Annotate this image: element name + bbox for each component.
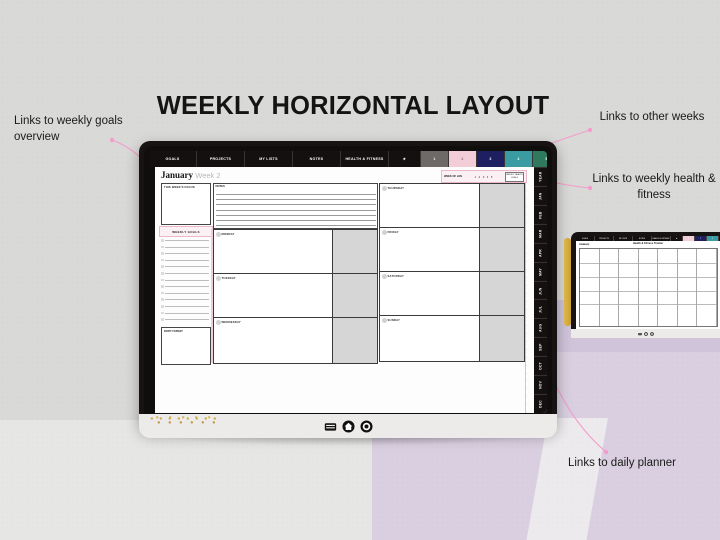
secondary-tab-goals[interactable]: GOALS xyxy=(576,236,595,241)
day-notes-area[interactable]: THURSDAY xyxy=(380,184,479,229)
secondary-tab-projects[interactable]: PROJECTS xyxy=(595,236,614,241)
tracker-row-line xyxy=(619,291,638,292)
tracker-column[interactable] xyxy=(639,249,659,326)
week-link-5[interactable]: 5 xyxy=(491,175,493,179)
month-label: January xyxy=(161,170,193,180)
day-notes-area[interactable]: FRIDAY xyxy=(380,228,479,273)
notes-lines[interactable] xyxy=(216,190,376,226)
tracker-row-line xyxy=(697,291,716,292)
tracker-row-line xyxy=(639,277,658,278)
tracker-row-line xyxy=(600,263,619,264)
tracker-row-line xyxy=(678,277,697,278)
day-notes-area[interactable]: WEDNESDAY xyxy=(214,318,332,363)
tracker-row-line xyxy=(697,304,716,305)
day-label: MONDAY xyxy=(222,233,235,236)
goal-write-line[interactable] xyxy=(165,293,209,294)
main-tablet: GOALSPROJECTSMY LISTSNOTESHEALTH & FITNE… xyxy=(139,141,557,431)
notes-label: NOTES xyxy=(216,185,225,188)
day-notes-area[interactable]: SATURDAY xyxy=(380,272,479,317)
day-link-circle-icon[interactable] xyxy=(382,230,387,235)
planner-page: January Week 2 WEEK OF JAN 12345 WEEKLY … xyxy=(155,167,527,413)
weekly-goal-row[interactable] xyxy=(161,250,209,257)
stylus-pencil xyxy=(564,238,571,326)
day-block-saturday[interactable]: SATURDAY xyxy=(379,271,525,318)
annotation-weekly-health-fitness: Links to weekly health & fitness xyxy=(592,172,716,203)
tracker-row-line xyxy=(580,291,599,292)
day-side-panel[interactable] xyxy=(332,318,377,363)
tracker-row-line xyxy=(600,304,619,305)
goal-write-line[interactable] xyxy=(165,299,209,300)
keyboard-icon[interactable] xyxy=(638,332,642,336)
weekly-goal-row[interactable] xyxy=(161,263,209,270)
day-notes-area[interactable]: MONDAY xyxy=(214,230,332,275)
month-tab-sep[interactable]: SEP xyxy=(534,337,547,356)
week-selector[interactable]: WEEK OF JAN 12345 WEEKLY HEALTH GOALS xyxy=(441,170,527,183)
tracker-row-line xyxy=(639,304,658,305)
tracker-row-line xyxy=(600,277,619,278)
tracker-row-line xyxy=(639,291,658,292)
annotation-daily-planner: Links to daily planner xyxy=(548,456,696,472)
goal-write-line[interactable] xyxy=(165,280,209,281)
month-tab-oct[interactable]: OCT xyxy=(534,356,547,375)
secondary-tab-strip[interactable]: GOALSPROJECTSMY LISTSNOTESHEALTH & FITNE… xyxy=(576,236,720,241)
day-label: SUNDAY xyxy=(388,319,401,322)
notes-box[interactable]: NOTES xyxy=(213,183,378,229)
tracker-row-line xyxy=(580,263,599,264)
day-label: TUESDAY xyxy=(222,277,236,280)
month-tab-year[interactable]: YEAR xyxy=(534,167,547,186)
tracker-row-line xyxy=(639,263,658,264)
weekly-goal-row[interactable] xyxy=(161,316,209,323)
tracker-row-line xyxy=(600,291,619,292)
tracker-row-line xyxy=(580,304,599,305)
goal-write-line[interactable] xyxy=(165,306,209,307)
secondary-tablet: GOALSPROJECTSMY LISTSNOTESHEALTH & FITNE… xyxy=(571,232,720,338)
month-header: January Week 2 xyxy=(161,170,221,180)
month-tab-feb[interactable]: FEB xyxy=(534,205,547,224)
checkbox-icon[interactable] xyxy=(161,318,164,321)
day-notes-area[interactable]: SUNDAY xyxy=(380,316,479,361)
tracker-column[interactable] xyxy=(658,249,678,326)
month-tab-nov[interactable]: NOV xyxy=(534,375,547,394)
secondary-tab-notes[interactable]: NOTES xyxy=(633,236,652,241)
weekly-goal-row[interactable] xyxy=(161,257,209,264)
planner-tab-projects[interactable]: PROJECTS xyxy=(197,151,245,167)
month-tab-jan[interactable]: JAN xyxy=(534,186,547,205)
tracker-row-line xyxy=(580,277,599,278)
checkbox-icon[interactable] xyxy=(161,265,164,268)
checkbox-icon[interactable] xyxy=(161,298,164,301)
day-side-panel[interactable] xyxy=(479,316,524,361)
week-number-links[interactable]: 12345 xyxy=(464,175,503,179)
tracker-row-line xyxy=(678,291,697,292)
checkbox-icon[interactable] xyxy=(161,279,164,282)
goal-write-line[interactable] xyxy=(165,260,209,261)
tracker-row-line xyxy=(697,277,716,278)
goal-write-line[interactable] xyxy=(165,247,209,248)
week-link-3[interactable]: 3 xyxy=(483,175,485,179)
weekly-goal-row[interactable] xyxy=(161,310,209,317)
day-link-circle-icon[interactable] xyxy=(382,274,387,279)
day-label: WEDNESDAY xyxy=(222,321,241,324)
day-link-circle-icon[interactable] xyxy=(216,232,221,237)
secondary-page-title: Health & Fitness Tracker xyxy=(576,242,720,245)
weekly-goal-row[interactable] xyxy=(161,296,209,303)
planner-tab-health-fitness[interactable]: HEALTH & FITNESS xyxy=(341,151,389,167)
tracker-row-line xyxy=(658,277,677,278)
weekly-goals-link[interactable]: WEEKLY GOALS xyxy=(159,226,213,237)
goal-write-line[interactable] xyxy=(165,313,209,314)
keyboard-icon[interactable] xyxy=(324,420,337,433)
month-tab-apr[interactable]: APR xyxy=(534,243,547,262)
this-weeks-focus-label: THIS WEEK'S FOCUS xyxy=(162,184,210,189)
day-side-panel[interactable] xyxy=(479,184,524,229)
goal-write-line[interactable] xyxy=(165,319,209,320)
annotation-weekly-goals-overview: Links to weekly goals overview xyxy=(14,114,134,145)
tracker-row-line xyxy=(619,277,638,278)
month-tab-mar[interactable]: MAR xyxy=(534,224,547,243)
secondary-tab-1[interactable]: 1 xyxy=(683,236,695,241)
day-link-circle-icon[interactable] xyxy=(216,276,221,281)
day-notes-area[interactable]: TUESDAY xyxy=(214,274,332,319)
goal-write-line[interactable] xyxy=(165,273,209,274)
target-icon[interactable] xyxy=(360,420,373,433)
weekly-goal-row[interactable] xyxy=(161,283,209,290)
tracker-row-line xyxy=(658,263,677,264)
weekly-goal-row[interactable] xyxy=(161,270,209,277)
month-tab-jun[interactable]: JUN xyxy=(534,281,547,300)
this-weeks-focus-box[interactable]: THIS WEEK'S FOCUS xyxy=(161,183,211,225)
day-block-wednesday[interactable]: WEDNESDAY xyxy=(213,317,378,364)
weekly-goal-row[interactable] xyxy=(161,237,209,244)
secondary-tablet-screen: GOALSPROJECTSMY LISTSNOTESHEALTH & FITNE… xyxy=(576,236,720,329)
glitter-decoration xyxy=(150,414,220,426)
day-side-panel[interactable] xyxy=(479,228,524,273)
weekly-goals-label: WEEKLY GOALS xyxy=(172,230,200,234)
tracker-column[interactable] xyxy=(678,249,698,326)
home-icon[interactable] xyxy=(342,420,355,433)
day-link-circle-icon[interactable] xyxy=(382,318,387,323)
tracker-column[interactable] xyxy=(697,249,717,326)
month-tab-jul[interactable]: JUL xyxy=(534,299,547,318)
planner-tab-my-lists[interactable]: MY LISTS xyxy=(245,151,293,167)
day-block-sunday[interactable]: SUNDAY xyxy=(379,315,525,362)
planner-tab-notes[interactable]: NOTES xyxy=(293,151,341,167)
tracker-row-line xyxy=(697,263,716,264)
secondary-tab-health-fitness[interactable]: HEALTH & FITNESS xyxy=(652,236,671,241)
planner-tab-3[interactable]: 3 xyxy=(477,151,505,167)
planner-tab-2[interactable]: 2 xyxy=(449,151,477,167)
planner-tab-[interactable]: ★ xyxy=(389,151,421,167)
weekly-goal-row[interactable] xyxy=(161,244,209,251)
planner-tab-4[interactable]: 4 xyxy=(505,151,533,167)
tracker-column[interactable] xyxy=(619,249,639,326)
dont-forget-box[interactable]: DON'T FORGET xyxy=(161,327,211,365)
checkbox-icon[interactable] xyxy=(161,285,164,288)
week-selector-label: WEEK OF JAN xyxy=(444,175,462,178)
checkbox-icon[interactable] xyxy=(161,272,164,275)
checkbox-icon[interactable] xyxy=(161,239,164,242)
goal-write-line[interactable] xyxy=(165,240,209,241)
goal-write-line[interactable] xyxy=(165,253,209,254)
week-link-2[interactable]: 2 xyxy=(479,175,481,179)
annotation-other-weeks: Links to other weeks xyxy=(592,110,712,126)
tracker-row-line xyxy=(678,263,697,264)
tracker-row-line xyxy=(658,291,677,292)
secondary-home-bar[interactable] xyxy=(571,329,720,338)
checkbox-icon[interactable] xyxy=(161,259,164,262)
secondary-tab-2[interactable]: 2 xyxy=(695,236,707,241)
day-side-panel[interactable] xyxy=(332,274,377,319)
tracker-row-line xyxy=(619,304,638,305)
secondary-tab-my-lists[interactable]: MY LISTS xyxy=(614,236,633,241)
day-link-circle-icon[interactable] xyxy=(382,186,387,191)
checkbox-icon[interactable] xyxy=(161,312,164,315)
planner-screen: GOALSPROJECTSMY LISTSNOTESHEALTH & FITNE… xyxy=(149,151,547,413)
home-icon[interactable] xyxy=(644,332,648,336)
day-label: THURSDAY xyxy=(388,187,405,190)
screenshot-stage: WEEKLY HORIZONTAL LAYOUT Links to weekly… xyxy=(0,0,720,540)
weekly-goal-row[interactable] xyxy=(161,303,209,310)
month-tab-aug[interactable]: AUG xyxy=(534,318,547,337)
weekly-goal-row[interactable] xyxy=(161,290,209,297)
page-title: WEEKLY HORIZONTAL LAYOUT xyxy=(138,92,568,120)
target-icon[interactable] xyxy=(650,332,654,336)
checkbox-icon[interactable] xyxy=(161,252,164,255)
planner-top-tab-strip[interactable]: GOALSPROJECTSMY LISTSNOTESHEALTH & FITNE… xyxy=(149,151,547,167)
weekly-health-goals-button[interactable]: WEEKLY HEALTH GOALS xyxy=(505,172,524,182)
day-label: SATURDAY xyxy=(388,275,404,278)
secondary-tracker-grid[interactable] xyxy=(579,248,718,327)
weekly-goal-row[interactable] xyxy=(161,277,209,284)
day-label: FRIDAY xyxy=(388,231,399,234)
tracker-row-line xyxy=(678,304,697,305)
day-block-friday[interactable]: FRIDAY xyxy=(379,227,525,274)
dont-forget-label: DON'T FORGET xyxy=(162,328,210,333)
month-tab-dec[interactable]: DEC xyxy=(534,394,547,413)
tracker-column[interactable] xyxy=(600,249,620,326)
planner-tab-5[interactable]: 5 xyxy=(533,151,547,167)
week-link-4[interactable]: 4 xyxy=(487,175,489,179)
goal-write-line[interactable] xyxy=(165,266,209,267)
weekly-goals-list[interactable] xyxy=(161,237,209,323)
checkbox-icon[interactable] xyxy=(161,292,164,295)
day-side-panel[interactable] xyxy=(479,272,524,317)
week-link-1[interactable]: 1 xyxy=(475,175,477,179)
day-side-panel[interactable] xyxy=(332,230,377,275)
day-block-thursday[interactable]: THURSDAY xyxy=(379,183,525,230)
checkbox-icon[interactable] xyxy=(161,305,164,308)
week-label: Week 2 xyxy=(195,171,220,180)
secondary-tab-3[interactable]: 3 xyxy=(707,236,719,241)
month-tab-rail[interactable]: YEARJANFEBMARAPRMAYJUNJULAUGSEPOCTNOVDEC xyxy=(534,167,547,413)
day-link-circle-icon[interactable] xyxy=(216,320,221,325)
tracker-column[interactable] xyxy=(580,249,600,326)
tracker-row-line xyxy=(619,263,638,264)
day-block-monday[interactable]: MONDAY xyxy=(213,229,378,276)
checkbox-icon[interactable] xyxy=(161,246,164,249)
planner-tab-1[interactable]: 1 xyxy=(421,151,449,167)
planner-tab-goals[interactable]: GOALS xyxy=(149,151,197,167)
month-tab-may[interactable]: MAY xyxy=(534,262,547,281)
notes-line[interactable] xyxy=(216,221,376,226)
secondary-tab-[interactable]: ★ xyxy=(671,236,683,241)
goal-write-line[interactable] xyxy=(165,286,209,287)
day-block-tuesday[interactable]: TUESDAY xyxy=(213,273,378,320)
tracker-row-line xyxy=(658,304,677,305)
